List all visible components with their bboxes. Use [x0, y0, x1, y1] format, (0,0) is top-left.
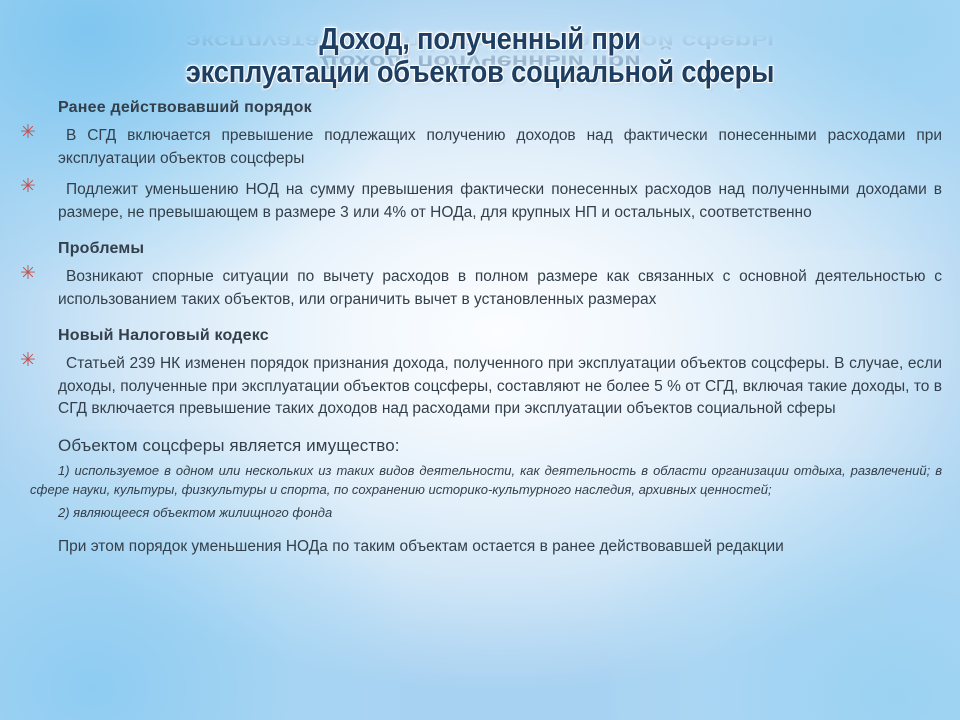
slide-title-line-2: эксплуатации объектов социальной сферы	[58, 55, 903, 88]
bullet-text: Подлежит уменьшению НОД на сумму превыше…	[58, 179, 942, 224]
closing-paragraph: При этом порядок уменьшения НОДа по таки…	[0, 536, 960, 559]
definition-item: 2) являющееся объектом жилищного фонда	[0, 503, 960, 522]
subheading-object-definition: Объектом соцсферы является имущество:	[58, 436, 960, 456]
slide-title-line-1: Доход, полученный при	[58, 22, 903, 55]
section-spacer	[0, 526, 960, 536]
asterisk-bullet-icon: ✳	[20, 122, 36, 144]
bullet-text: В СГД включается превышение подлежащих п…	[58, 125, 942, 170]
asterisk-bullet-icon: ✳	[20, 350, 36, 372]
bullet-text: Статьей 239 НК изменен порядок признания…	[58, 353, 942, 421]
slide-title: Доход, полученный при эксплуатации объек…	[0, 22, 960, 88]
presentation-slide: Доход, полученный при эксплуатации объек…	[0, 0, 960, 720]
bullet-item: ✳ В СГД включается превышение подлежащих…	[0, 125, 960, 170]
asterisk-bullet-icon: ✳	[20, 176, 36, 198]
asterisk-bullet-icon: ✳	[20, 263, 36, 285]
bullet-item: ✳ Статьей 239 НК изменен порядок признан…	[0, 353, 960, 421]
section-heading-previous-order: Ранее действовавший порядок	[58, 98, 960, 118]
bullet-item: ✳ Подлежит уменьшению НОД на сумму превы…	[0, 179, 960, 224]
section-heading-new-tax-code: Новый Налоговый кодекс	[58, 326, 960, 346]
section-heading-problems: Проблемы	[58, 239, 960, 259]
bullet-text: Возникают спорные ситуации по вычету рас…	[58, 266, 942, 311]
slide-body: Ранее действовавший порядок ✳ В СГД вклю…	[0, 98, 960, 564]
bullet-item: ✳ Возникают спорные ситуации по вычету р…	[0, 266, 960, 311]
definition-item: 1) используемое в одном или нескольких и…	[0, 461, 960, 499]
